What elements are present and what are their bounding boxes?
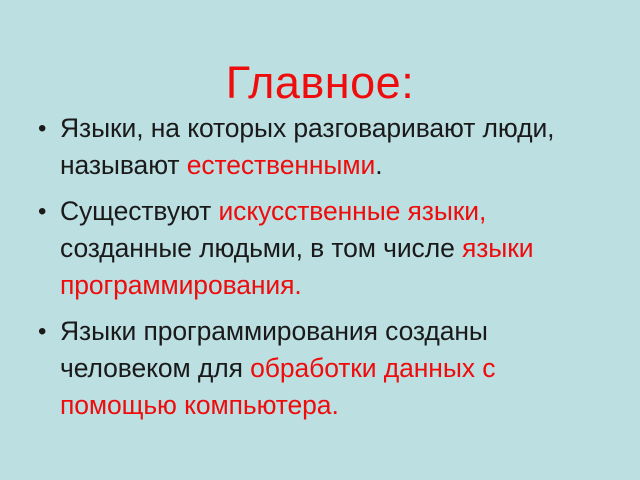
list-item: • Существуют искусственные языки, создан…: [34, 193, 600, 304]
highlighted-term: естественными: [187, 150, 376, 180]
bullet-dot-icon: •: [38, 110, 56, 147]
bullet-3-text: Языки программирования созданы человеком…: [60, 313, 572, 424]
presentation-slide: Главное: • Языки, на которых разговарива…: [0, 0, 640, 480]
highlighted-term: искусственные языки,: [218, 196, 486, 226]
bullet-dot-icon: •: [38, 313, 56, 350]
body-text-run: .: [375, 150, 382, 180]
bullet-2-text: Существуют искусственные языки, созданны…: [60, 193, 600, 304]
bullet-1-text: Языки, на которых разговаривают люди, на…: [60, 110, 560, 184]
body-text-run: созданные людьми, в том числе: [60, 233, 462, 263]
list-item: • Языки программирования созданы человек…: [34, 313, 600, 424]
list-item: • Языки, на которых разговаривают люди, …: [34, 110, 600, 184]
slide-title: Главное:: [0, 56, 640, 110]
bullet-list: • Языки, на которых разговаривают люди, …: [34, 110, 600, 424]
body-text-run: Существуют: [60, 196, 218, 226]
bullet-dot-icon: •: [38, 193, 56, 230]
